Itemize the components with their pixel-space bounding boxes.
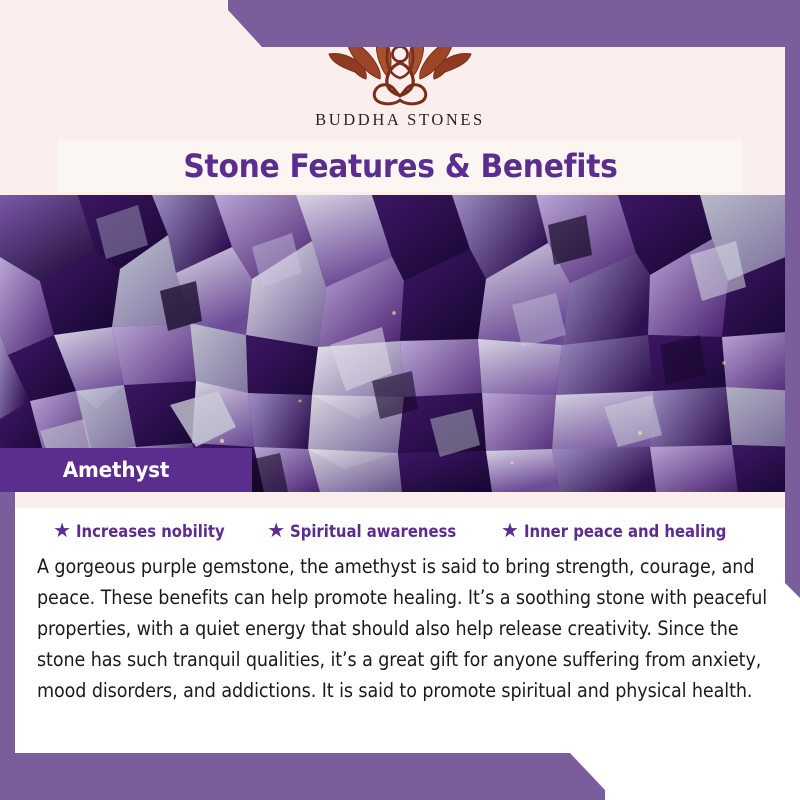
stone-name: Amethyst — [63, 458, 169, 482]
benefits-list: ★ Increases nobility ★ Spiritual awarene… — [15, 508, 787, 541]
benefit-item: ★ Inner peace and healing — [501, 521, 749, 541]
benefit-item: ★ Increases nobility — [53, 521, 241, 541]
content-inner: ★ Increases nobility ★ Spiritual awarene… — [15, 508, 787, 783]
star-icon: ★ — [267, 521, 285, 541]
benefit-label: Inner peace and healing — [524, 522, 726, 541]
frame-band-right — [785, 0, 800, 598]
page-title-band: Stone Features & Benefits — [58, 140, 742, 192]
stone-name-banner: Amethyst — [0, 448, 252, 492]
page-title: Stone Features & Benefits — [183, 147, 617, 185]
brand-name: BUDDHA STONES — [315, 110, 485, 130]
frame-band-left — [0, 492, 15, 800]
benefit-label: Spiritual awareness — [290, 522, 456, 541]
star-icon: ★ — [53, 521, 71, 541]
benefit-label: Increases nobility — [76, 522, 225, 541]
stone-description: A gorgeous purple gemstone, the amethyst… — [37, 551, 775, 706]
benefit-item: ★ Spiritual awareness — [267, 521, 475, 541]
star-icon: ★ — [501, 521, 519, 541]
content-top-strip — [15, 492, 787, 508]
